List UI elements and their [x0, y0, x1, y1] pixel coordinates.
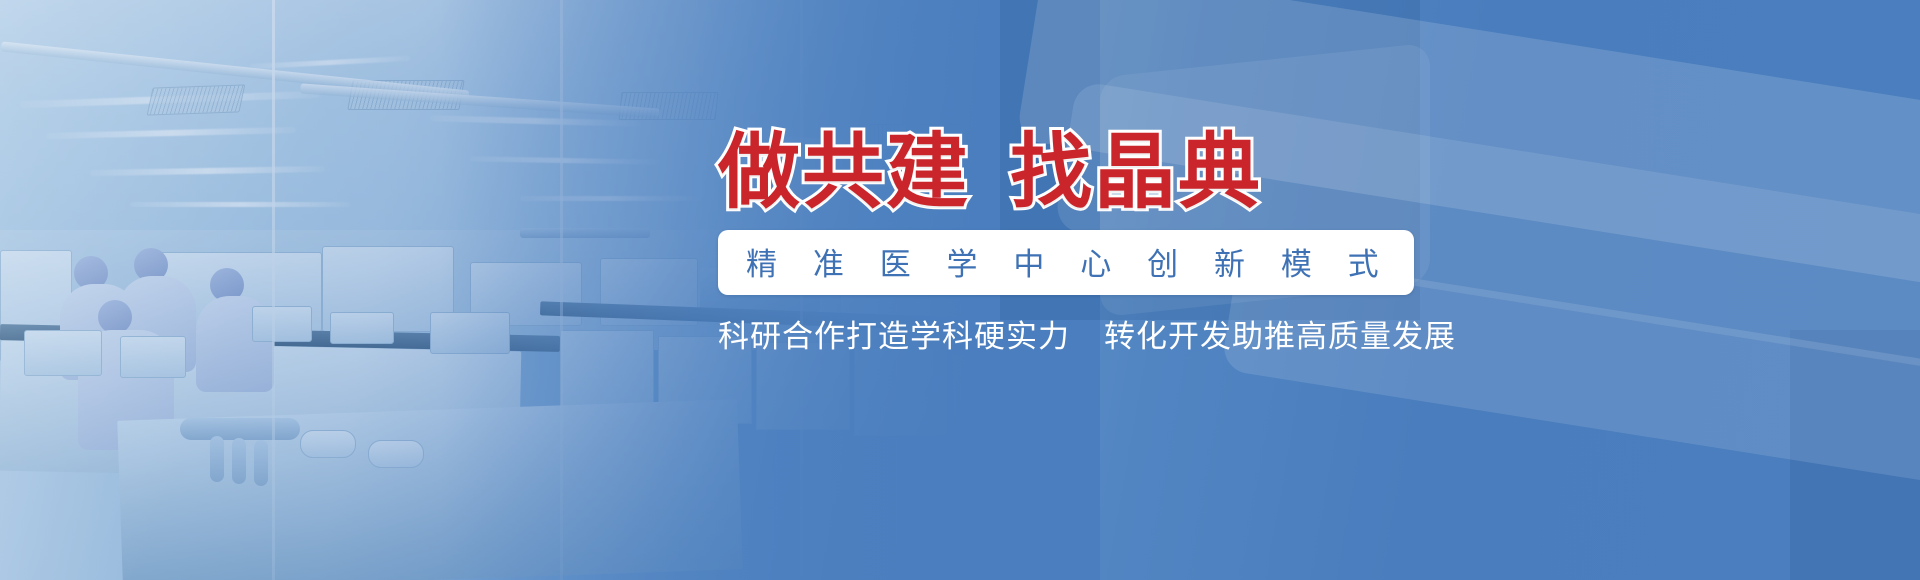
tagline-right: 转化开发助推高质量发展	[1104, 319, 1456, 355]
subtitle-text: 精 准 医 学 中 心 创 新 模 式	[740, 239, 1392, 284]
promo-banner: 做共建找晶典 精 准 医 学 中 心 创 新 模 式 科研合作打造学科硬实力转化…	[0, 0, 1920, 580]
tagline-left: 科研合作打造学科硬实力	[718, 319, 1070, 355]
headline-right: 找晶典	[1010, 125, 1262, 220]
headline-left: 做共建	[718, 125, 970, 220]
subtitle-pill: 精 准 医 学 中 心 创 新 模 式	[718, 230, 1414, 295]
page-title: 做共建找晶典	[718, 132, 1398, 214]
banner-text-block: 做共建找晶典 精 准 医 学 中 心 创 新 模 式 科研合作打造学科硬实力转化…	[718, 132, 1398, 356]
tagline: 科研合作打造学科硬实力转化开发助推高质量发展	[718, 311, 1398, 356]
